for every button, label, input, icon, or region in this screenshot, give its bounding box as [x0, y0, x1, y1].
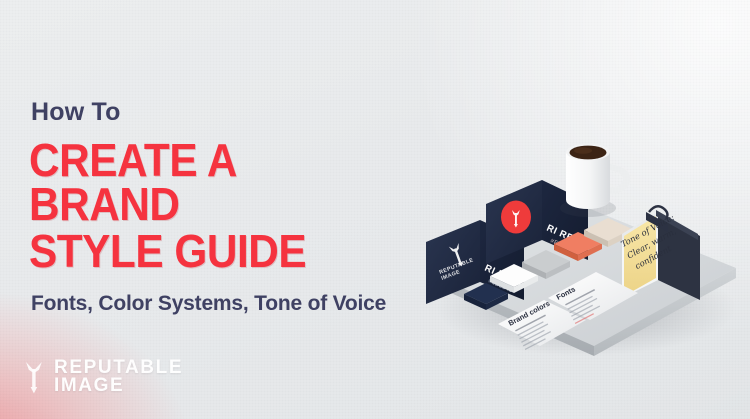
headline-line-2: STYLE GUIDE [29, 230, 397, 274]
headline-block: How To CREATE A BRAND STYLE GUIDE Fonts,… [29, 100, 429, 315]
logo-line-2: IMAGE [54, 377, 183, 395]
logo-wordmark: REPUTABLE IMAGE [54, 359, 183, 395]
page-title: CREATE A BRAND STYLE GUIDE [29, 139, 397, 274]
eyebrow-text: How To [31, 100, 429, 125]
subtitle-text: Fonts, Color Systems, Tone of Voice [31, 292, 429, 315]
brand-logo: REPUTABLE IMAGE [23, 359, 183, 395]
torch-icon [23, 360, 45, 394]
headline-line-1: CREATE A BRAND [29, 134, 235, 230]
coffee-mug [560, 144, 630, 217]
brand-style-guide-illustration: REPUTABLE IMAGE RI NAVY #1B2340 RI RED #… [418, 112, 750, 362]
banner-root: REPUTABLE IMAGE RI NAVY #1B2340 RI RED #… [0, 0, 750, 419]
